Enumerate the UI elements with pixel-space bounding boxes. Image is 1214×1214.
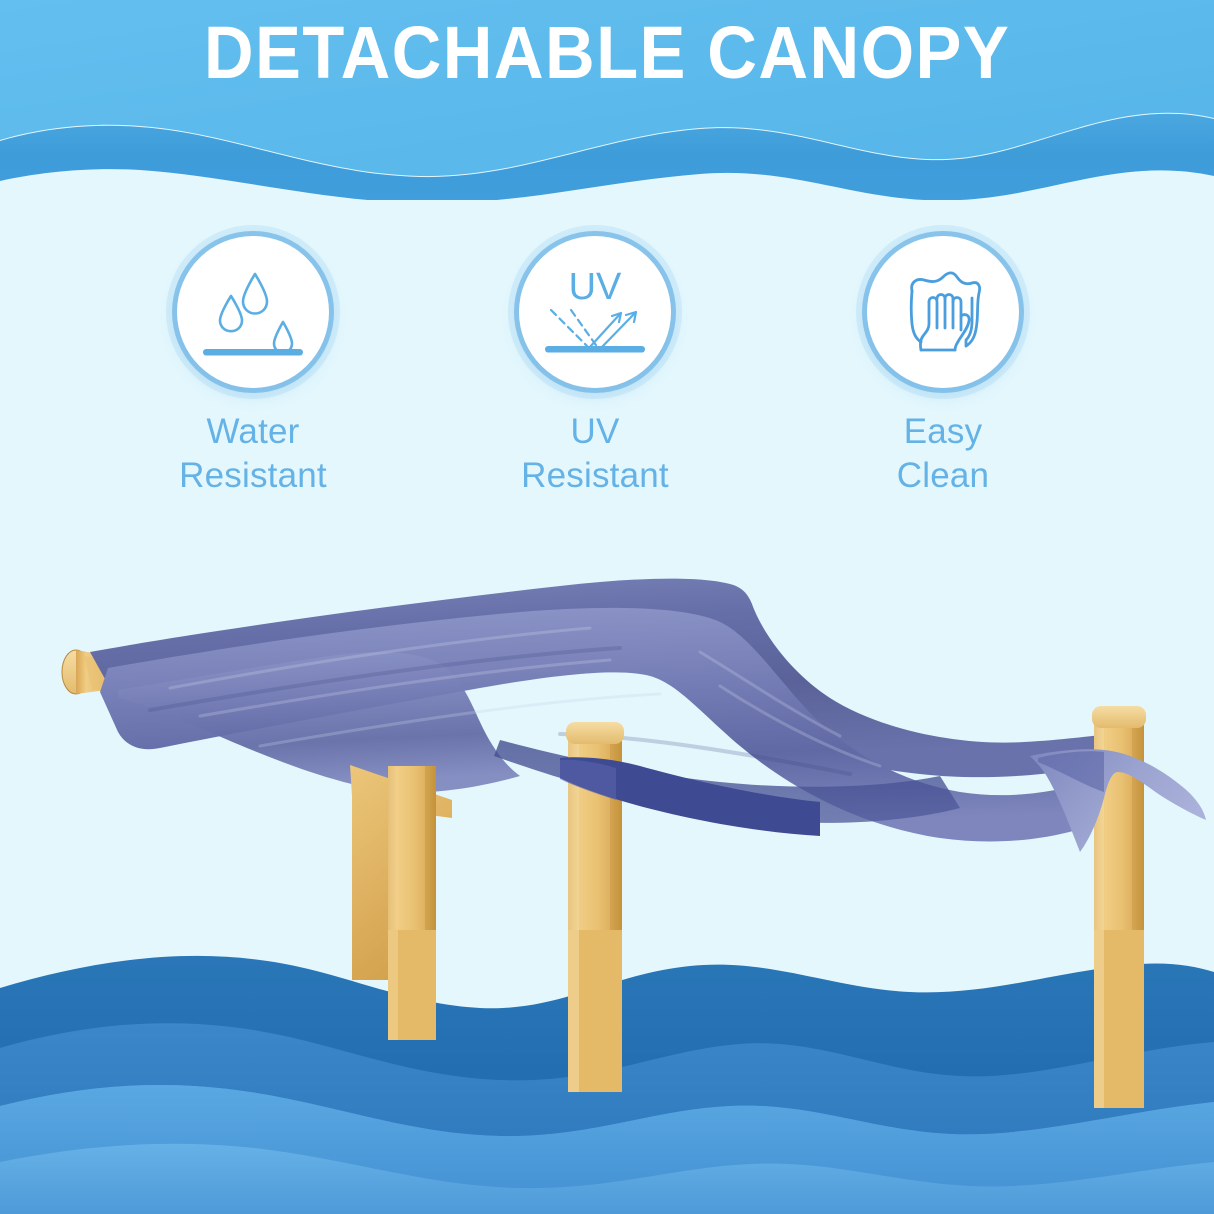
uv-reflect-icon: UV <box>519 236 671 388</box>
hand-wipe-cloth-icon <box>867 236 1019 388</box>
bottom-wave-decoration <box>0 930 1214 1214</box>
feature-item-easy-clean: Easy Clean <box>823 236 1063 498</box>
feature-item-water-resistant: Water Resistant <box>133 236 373 498</box>
header-banner: DETACHABLE CANOPY <box>0 0 1214 200</box>
surface-line <box>545 346 645 353</box>
wave-layers <box>0 930 1214 1214</box>
uv-icon-text: UV <box>569 266 622 308</box>
product-infographic: DETACHABLE CANOPY <box>0 0 1214 1214</box>
surface-line <box>203 349 303 356</box>
page-title: DETACHABLE CANOPY <box>42 14 1171 92</box>
badge-easy-clean <box>867 236 1019 388</box>
feature-item-uv-resistant: UV UV Resistant <box>475 236 715 498</box>
water-drop-surface-icon <box>177 236 329 388</box>
feature-label: Easy Clean <box>823 410 1063 498</box>
feature-label: UV Resistant <box>475 410 715 498</box>
badge-water-resistant <box>177 236 329 388</box>
feature-badges: Water Resistant UV <box>0 236 1214 556</box>
feature-label: Water Resistant <box>133 410 373 498</box>
badge-uv-resistant: UV <box>519 236 671 388</box>
